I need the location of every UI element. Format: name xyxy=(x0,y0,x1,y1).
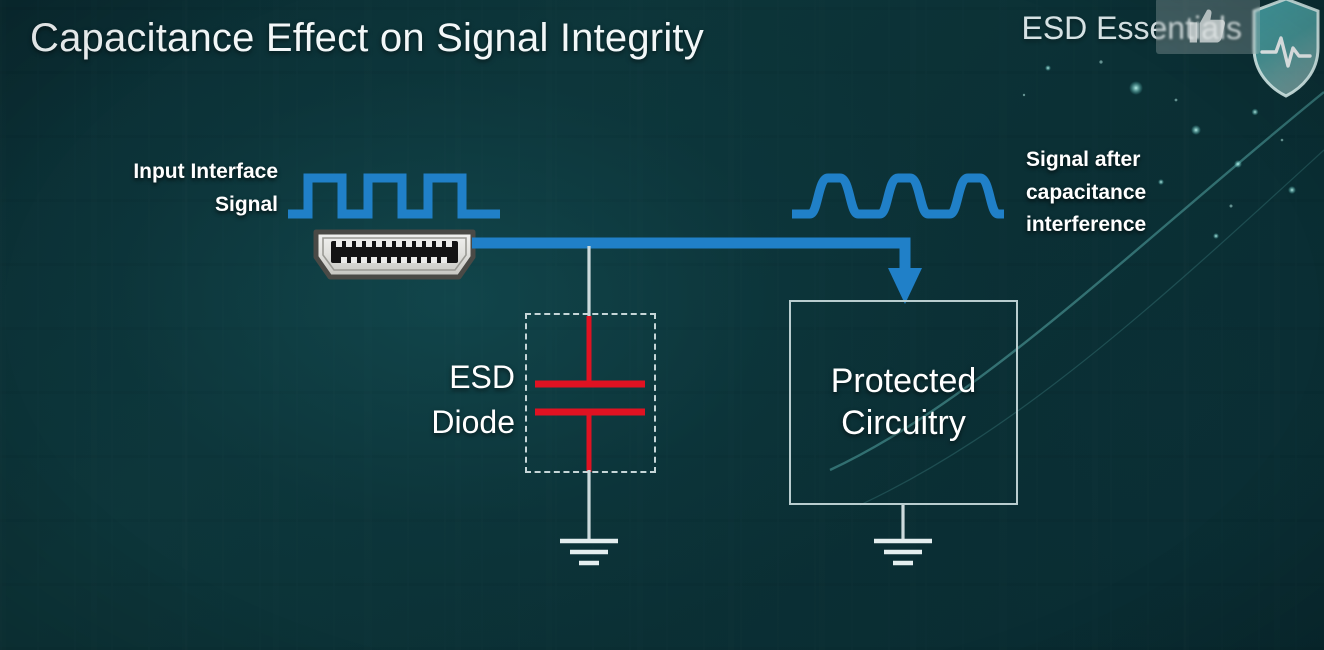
protected-circuitry-label-line2: Circuitry xyxy=(841,403,966,444)
esd-diode-enclosure xyxy=(525,313,656,473)
signal-arrow-icon xyxy=(888,268,922,304)
circuit-diagram xyxy=(0,0,1324,650)
ground-symbol-esd xyxy=(560,541,618,563)
protected-circuitry-label-line1: Protected xyxy=(831,361,977,402)
esd-diode-label-line1: ESD xyxy=(405,355,515,400)
ground-symbol-protected xyxy=(874,541,932,563)
slide-root: Capacitance Effect on Signal Integrity E… xyxy=(0,0,1324,650)
protected-circuitry-box: Protected Circuitry xyxy=(789,300,1018,505)
signal-trace xyxy=(472,243,905,278)
esd-diode-label-line2: Diode xyxy=(405,400,515,445)
esd-diode-label: ESD Diode xyxy=(405,355,515,446)
